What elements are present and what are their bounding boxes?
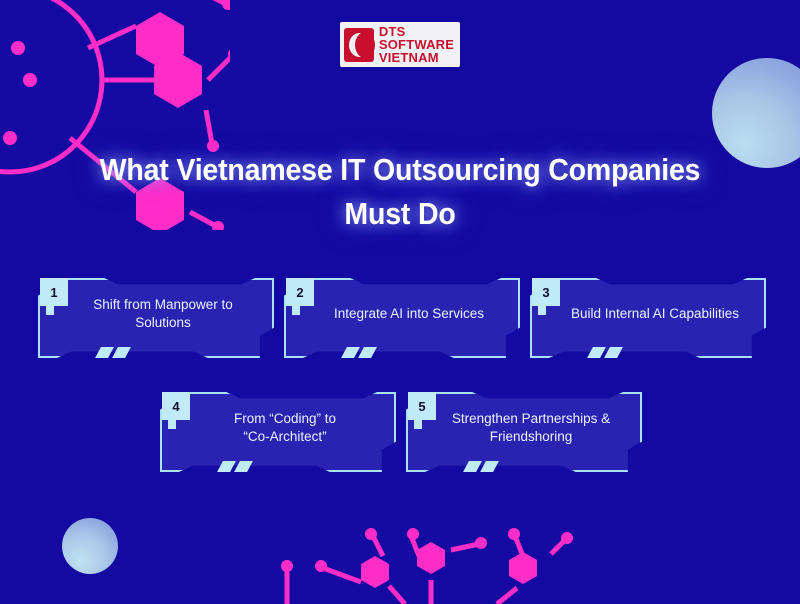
- logo-line-3: VIETNAM: [379, 51, 454, 64]
- card-number-badge: 2: [286, 278, 314, 306]
- molecules-bottom-icon: [265, 514, 595, 604]
- card-item-5[interactable]: 5 Strengthen Partnerships & Friendshorin…: [406, 392, 642, 472]
- card-number-badge: 5: [408, 392, 436, 420]
- logo-wordmark: DTS SOFTWARE VIETNAM: [379, 25, 454, 64]
- card-stripes-icon: [466, 461, 496, 472]
- card-stripes-icon: [98, 347, 128, 358]
- card-label: Shift from Manpower to Solutions: [72, 278, 254, 350]
- card-number-badge: 1: [40, 278, 68, 306]
- page-title: What Vietnamese IT Outsourcing Companies…: [87, 148, 713, 236]
- card-number-badge: 4: [162, 392, 190, 420]
- card-item-3[interactable]: 3 Build Internal AI Capabilities: [530, 278, 766, 358]
- brand-logo: DTS SOFTWARE VIETNAM: [0, 22, 800, 67]
- card-item-4[interactable]: 4 From “Coding” to “Co-Architect”: [160, 392, 396, 472]
- card-stripes-icon: [220, 461, 250, 472]
- card-stripes-icon: [590, 347, 620, 358]
- card-item-1[interactable]: 1 Shift from Manpower to Solutions: [38, 278, 274, 358]
- card-number-badge: 3: [532, 278, 560, 306]
- dts-logo-mark-icon: [344, 28, 374, 62]
- card-label: Integrate AI into Services: [318, 278, 500, 350]
- card-label: From “Coding” to “Co-Architect”: [194, 392, 376, 464]
- decorative-sphere-right: [712, 58, 800, 168]
- cards-row-primary: 1 Shift from Manpower to Solutions 2 Int…: [38, 278, 766, 358]
- cards-row-secondary: 4 From “Coding” to “Co-Architect” 5 Stre…: [160, 392, 642, 472]
- card-stripes-icon: [344, 347, 374, 358]
- decorative-sphere-bottom-left: [62, 518, 118, 574]
- card-label: Strengthen Partnerships & Friendshoring: [440, 392, 622, 464]
- card-item-2[interactable]: 2 Integrate AI into Services: [284, 278, 520, 358]
- card-label: Build Internal AI Capabilities: [564, 278, 746, 350]
